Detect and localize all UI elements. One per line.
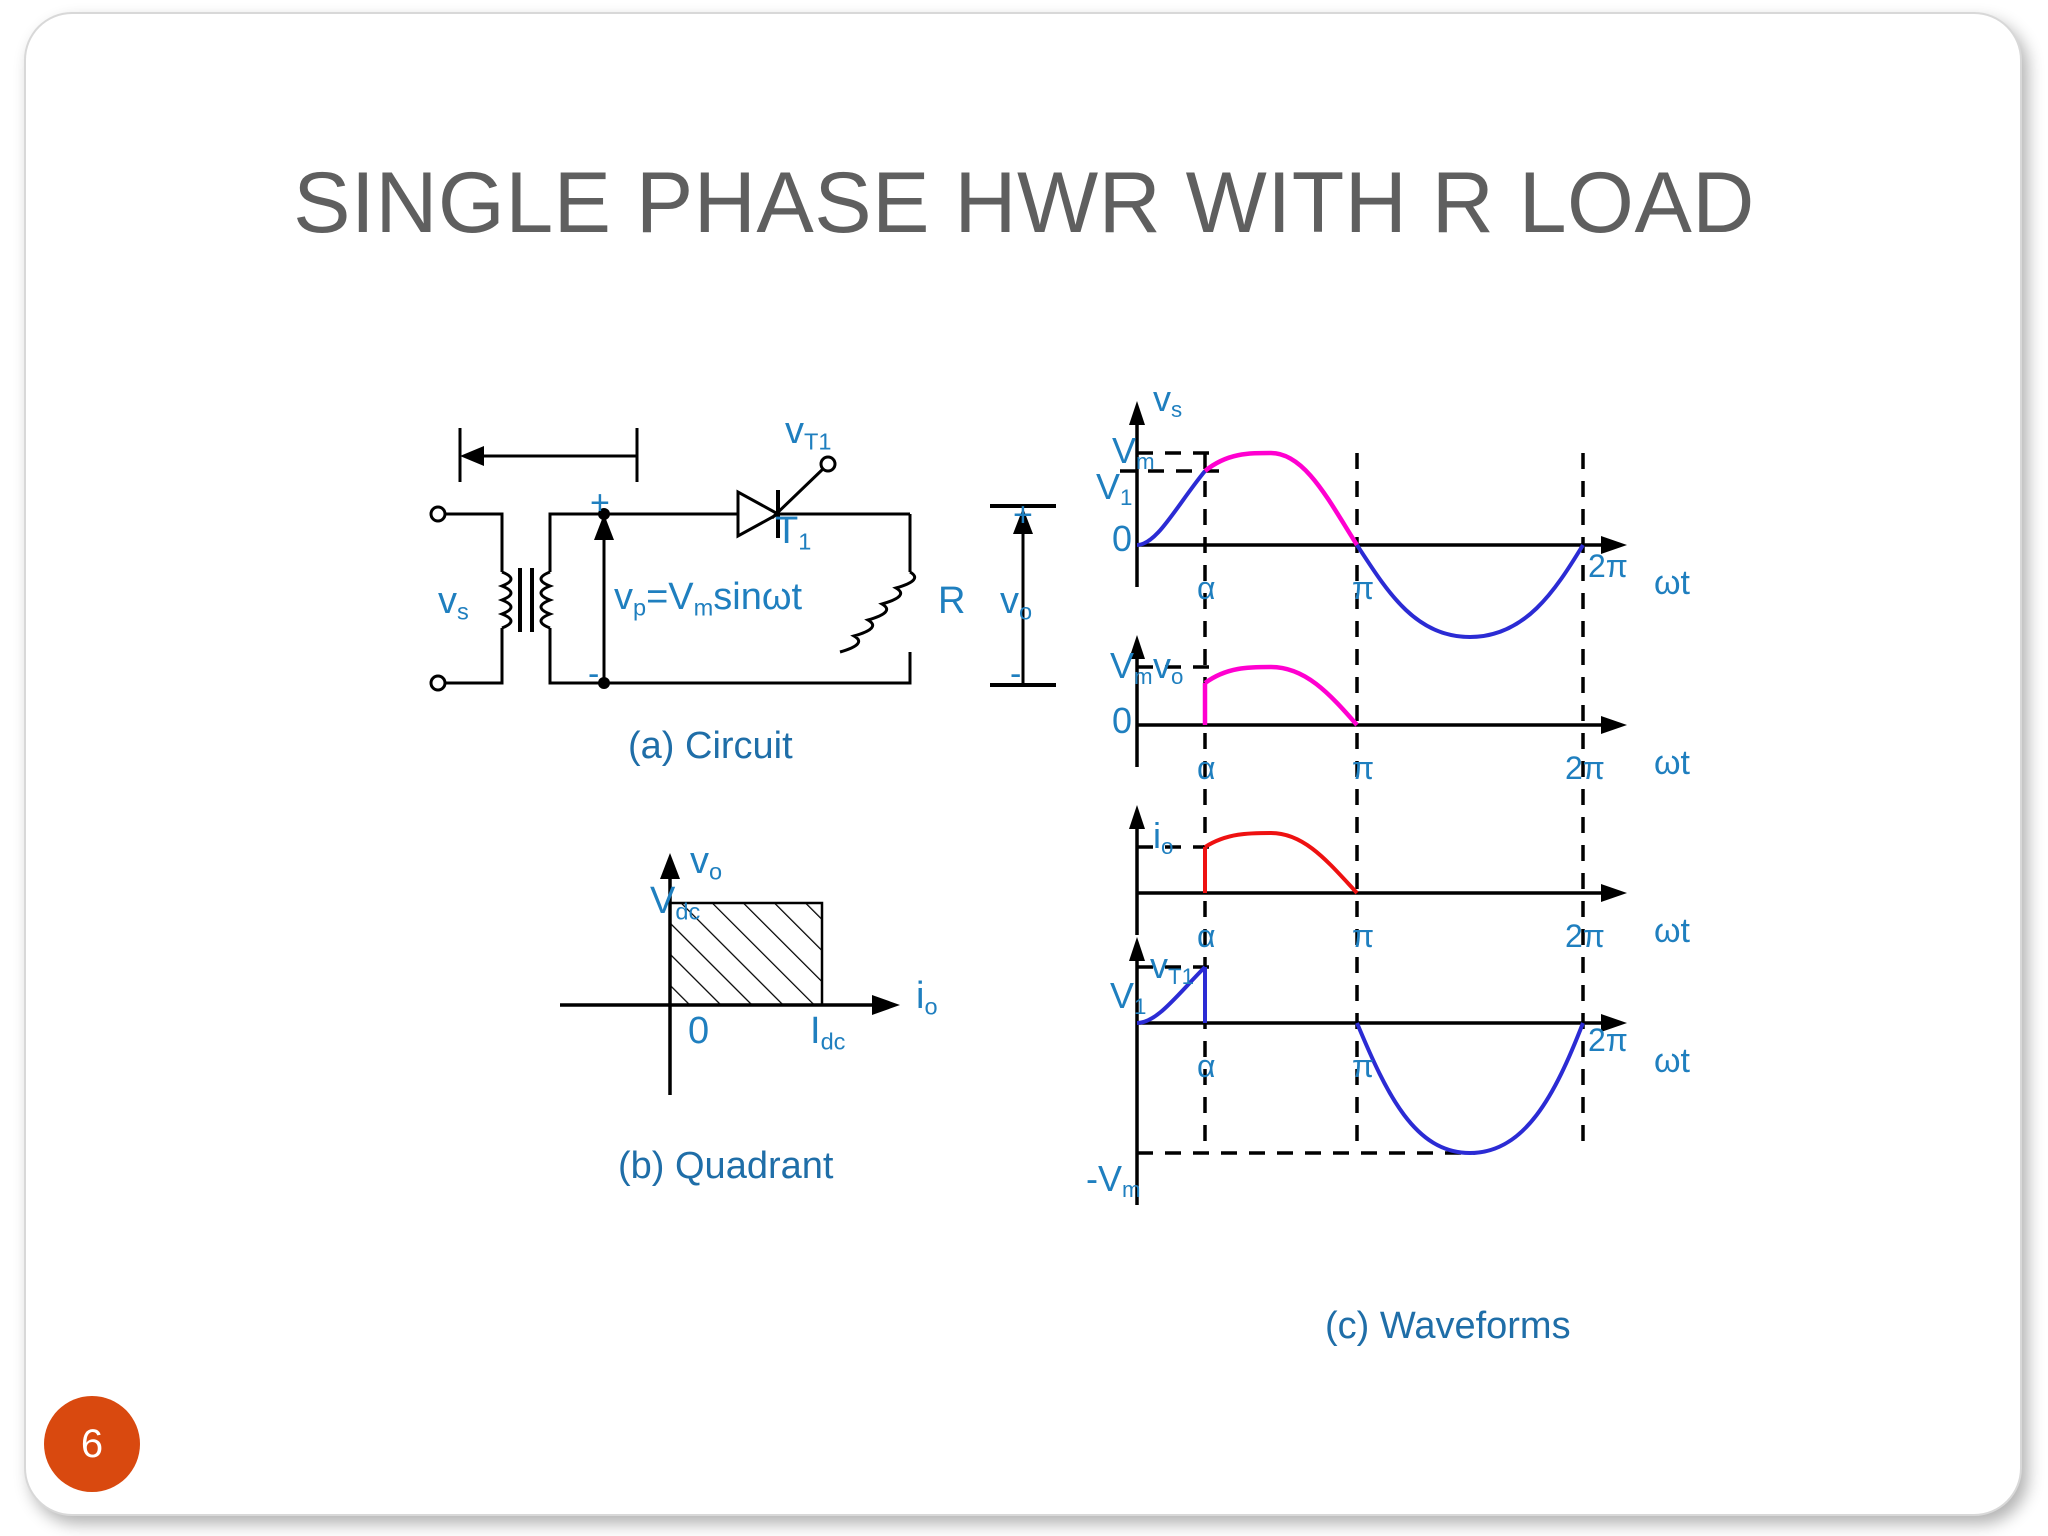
right-bottom-wire — [604, 652, 910, 683]
plus-sign-left: + — [590, 484, 610, 523]
p1-alpha-tick: α — [1197, 570, 1216, 607]
p1-trace-magenta — [1205, 453, 1357, 545]
transformer-secondary-coil — [541, 572, 550, 628]
terminal-bottom-left — [431, 676, 445, 690]
quadrant-x-axis-label: io — [916, 975, 938, 1021]
output-voltage-label: vo — [1000, 580, 1032, 626]
primary-bottom-wire — [445, 628, 502, 683]
thyristor-gate-terminal — [821, 457, 835, 471]
p4-y-axis-label: vT1 — [1150, 945, 1194, 990]
p3-twopi-tick: 2π — [1565, 918, 1605, 955]
thyristor-triangle — [738, 492, 778, 536]
p4-negvm-label: -Vm — [1086, 1158, 1141, 1203]
transformer-primary-coil — [502, 572, 511, 628]
vt1-arrow-head — [460, 446, 484, 466]
quadrant-vdc-label: Vdc — [650, 880, 700, 926]
waveforms-caption: (c) Waveforms — [1325, 1305, 1571, 1348]
p2-x-arrow — [1601, 716, 1627, 734]
p2-x-axis-label: ωt — [1654, 744, 1690, 783]
p4-pi-tick: π — [1352, 1048, 1374, 1085]
p1-zero-label: 0 — [1112, 518, 1132, 560]
page-title: SINGLE PHASE HWR WITH R LOAD — [0, 160, 2048, 246]
plus-sign-right: + — [1013, 496, 1033, 535]
p1-x-axis-label: ωt — [1654, 564, 1690, 603]
resistor-zigzag — [840, 572, 915, 652]
minus-sign-left: - — [588, 655, 599, 694]
p1-trace-blue-a — [1137, 471, 1205, 545]
p3-y-arrow — [1129, 805, 1145, 829]
p2-alpha-tick: α — [1197, 750, 1216, 787]
resistor-label: R — [938, 580, 965, 623]
p4-x-axis-label: ωt — [1654, 1042, 1690, 1081]
waveforms-svg — [1115, 395, 1735, 1335]
quadrant-y-arrow — [660, 853, 680, 879]
p1-y-axis-label: vs — [1153, 378, 1182, 423]
p3-y-axis-label: io — [1153, 815, 1173, 860]
p1-trace-blue-b — [1357, 545, 1583, 637]
thyristor-label: T1 — [775, 510, 811, 556]
p1-twopi-tick: 2π — [1588, 548, 1628, 585]
quadrant-idc-label: Idc — [810, 1010, 845, 1056]
minus-sign-right: - — [1010, 655, 1021, 694]
secondary-bottom-wire — [550, 628, 682, 683]
p1-v1-label: V1 — [1096, 466, 1132, 511]
p3-trace — [1205, 833, 1357, 893]
quadrant-caption: (b) Quadrant — [618, 1145, 833, 1188]
p1-pi-tick: π — [1352, 570, 1374, 607]
terminal-top-left — [431, 507, 445, 521]
quadrant-y-axis-label: vo — [690, 840, 722, 886]
p4-v1-label: V1 — [1110, 975, 1146, 1020]
source-voltage-label: vs — [438, 580, 469, 626]
quadrant-origin-label: 0 — [688, 1010, 709, 1053]
page-number-badge: 6 — [44, 1396, 140, 1492]
primary-voltage-expression: vp=Vmsinωt — [614, 576, 802, 622]
p4-twopi-tick: 2π — [1588, 1022, 1628, 1059]
slide-root: SINGLE PHASE HWR WITH R LOAD 6 — [0, 0, 2048, 1536]
p2-twopi-tick: 2π — [1565, 750, 1605, 787]
circuit-caption: (a) Circuit — [628, 725, 793, 768]
p2-y-axis-label: vo — [1153, 645, 1183, 690]
p2-trace — [1205, 667, 1357, 725]
p2-vm-label: Vm — [1110, 645, 1153, 690]
p3-pi-tick: π — [1352, 918, 1374, 955]
p3-x-arrow — [1601, 884, 1627, 902]
primary-top-wire — [445, 514, 502, 572]
p3-x-axis-label: ωt — [1654, 912, 1690, 951]
secondary-top-wire — [550, 514, 682, 572]
thyristor-voltage-label: vT1 — [785, 410, 831, 456]
p2-zero-label: 0 — [1112, 700, 1132, 742]
p4-trace-neg — [1357, 1023, 1583, 1153]
p4-y-arrow — [1129, 937, 1145, 961]
p2-pi-tick: π — [1352, 750, 1374, 787]
p4-alpha-tick: α — [1197, 1048, 1216, 1085]
p1-y-arrow — [1129, 401, 1145, 425]
quadrant-x-arrow — [872, 995, 900, 1015]
p3-alpha-tick: α — [1197, 918, 1216, 955]
